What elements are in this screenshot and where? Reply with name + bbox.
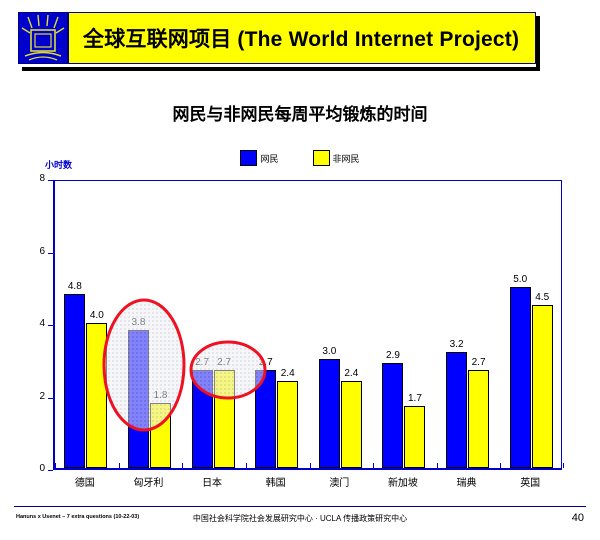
x-axis-tick-mark (563, 463, 564, 468)
bar-non-internet-users (277, 381, 298, 468)
bar-internet-users (382, 363, 403, 468)
bar-value-label: 4.8 (59, 281, 90, 292)
x-axis-tick-mark (55, 463, 56, 468)
footer-page-number: 40 (572, 512, 584, 524)
plot-area: 4.84.03.81.82.72.72.72.43.02.42.91.73.22… (53, 180, 562, 470)
bar-non-internet-users (468, 370, 489, 468)
y-axis-tick-mark (48, 470, 53, 471)
bar-value-label: 5.0 (505, 274, 536, 285)
bar-value-label: 2.7 (463, 357, 494, 368)
bar-non-internet-users (341, 381, 362, 468)
footer-divider (14, 506, 586, 507)
bar-value-label: 3.2 (441, 339, 472, 350)
footer-institution-note: 中国社会科学院社会发展研究中心 · UCLA 传播政策研究中心 (0, 513, 600, 524)
x-axis-category-label: 日本 (180, 474, 244, 489)
bar-value-label: 2.7 (209, 357, 240, 368)
x-axis-category-label: 澳门 (308, 474, 372, 489)
x-axis-category-label: 韩国 (244, 474, 308, 489)
x-axis-category-label: 瑞典 (435, 474, 499, 489)
bar-value-label: 2.7 (250, 357, 281, 368)
bar-internet-users (510, 287, 531, 468)
bar-internet-users (446, 352, 467, 468)
y-axis-title: 小时数 (45, 158, 72, 171)
bar-value-label: 2.4 (272, 368, 303, 379)
bar-value-label: 3.0 (314, 346, 345, 357)
bar-internet-users (192, 370, 213, 468)
bar-value-label: 2.4 (336, 368, 367, 379)
bar-value-label: 4.5 (527, 292, 558, 303)
x-axis-tick-mark (310, 463, 311, 468)
x-axis-category-label: 英国 (498, 474, 562, 489)
bar-non-internet-users (214, 370, 235, 468)
y-axis-tick-label: 8 (21, 173, 45, 184)
x-axis-tick-mark (182, 463, 183, 468)
x-axis-tick-mark (500, 463, 501, 468)
bar-value-label: 1.8 (145, 390, 176, 401)
bar-non-internet-users (532, 305, 553, 468)
bar-value-label: 3.8 (123, 317, 154, 328)
bar-non-internet-users (150, 403, 171, 468)
y-axis-tick-label: 4 (21, 318, 45, 329)
bar-value-label: 1.7 (399, 393, 430, 404)
bar-non-internet-users (404, 406, 425, 468)
x-axis-tick-mark (373, 463, 374, 468)
x-axis-tick-mark (246, 463, 247, 468)
y-axis-tick-label: 2 (21, 391, 45, 402)
bars-layer: 4.84.03.81.82.72.72.72.43.02.42.91.73.22… (55, 181, 561, 468)
bar-non-internet-users (86, 323, 107, 468)
bar-value-label: 4.0 (81, 310, 112, 321)
x-axis-tick-mark (119, 463, 120, 468)
y-axis-tick-label: 6 (21, 246, 45, 257)
y-axis-tick-label: 0 (21, 463, 45, 474)
x-axis-category-label: 匈牙利 (117, 474, 181, 489)
bar-internet-users (255, 370, 276, 468)
chart-plot-wrapper: 小时数 02468 4.84.03.81.82.72.72.72.43.02.4… (0, 0, 600, 540)
x-axis-category-label: 新加坡 (371, 474, 435, 489)
x-axis-category-label: 德国 (53, 474, 117, 489)
bar-value-label: 2.9 (377, 350, 408, 361)
x-axis-tick-mark (437, 463, 438, 468)
